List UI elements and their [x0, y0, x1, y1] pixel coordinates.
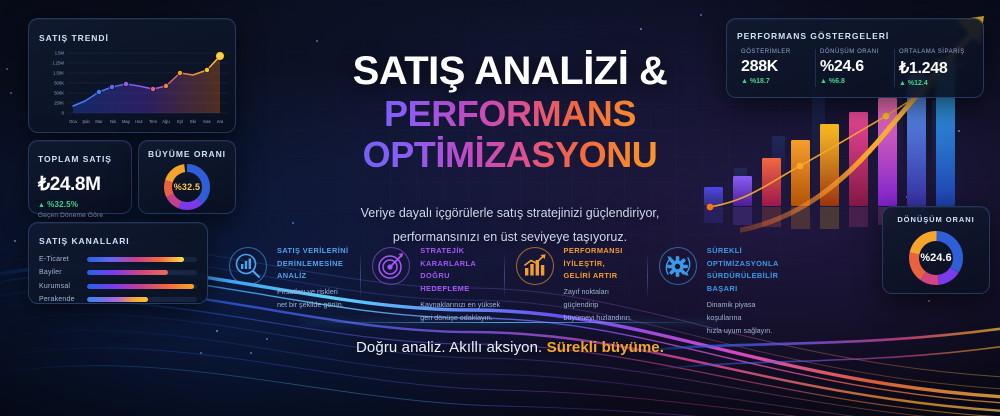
- feature-title-line1: STRATEJİK KARARLARLA: [420, 245, 501, 270]
- channel-bar-track: [87, 257, 197, 262]
- feature-separator: [647, 252, 648, 300]
- total-sales-delta: ▲%32.5%: [38, 200, 122, 209]
- feature-body: PERFORMANSI İYİLEŞTİR,GELİRİ ARTIRZayıf …: [564, 244, 645, 325]
- channel-row: Kurumsal: [39, 283, 197, 290]
- sales-channels-card: SATIŞ KANALLARI E-TicaretBayilerKurumsal…: [28, 222, 208, 304]
- feature-body: SATIŞ VERİLERİNİDERİNLEMESİNE ANALİZFırs…: [277, 244, 358, 312]
- sales-trend-chart: 1.5M 1.25M 1.50K 500K 500K 250K 0: [37, 45, 231, 129]
- feature-desc: Kaynaklarınızı en yüksekgeri dönüşe odak…: [420, 299, 501, 325]
- feature-desc-line2: hızla uyum sağlayın.: [707, 325, 788, 338]
- svg-text:Şub: Şub: [82, 119, 90, 124]
- feature-desc: Zayıf noktaları güçlendiripbüyümeyi hızl…: [564, 286, 645, 324]
- sales-channels-list: E-TicaretBayilerKurumsalPerakende: [39, 256, 197, 304]
- kpi-item: DÖNÜŞÜM ORANI%24.6▲ %6.8: [815, 49, 894, 87]
- channel-label: E-Ticaret: [39, 256, 87, 263]
- up-caret-icon: ▲: [820, 78, 827, 85]
- svg-text:Haz: Haz: [135, 119, 142, 124]
- feature-item: STRATEJİK KARARLARLADOĞRU HEDEFLEMEKayna…: [371, 244, 501, 337]
- sales-trend-title: SATIŞ TRENDİ: [39, 33, 109, 43]
- feature-desc-line2: net bir şekilde görün.: [277, 299, 358, 312]
- channel-label: Kurumsal: [39, 283, 87, 290]
- hero-subtitle-line1: Veriye dayalı içgörülerle satış strateji…: [250, 201, 770, 225]
- conversion-rate-title: DÖNÜŞÜM ORANI: [891, 215, 981, 224]
- kpi-label: ORTALAMA SİPARİŞ: [899, 49, 969, 55]
- feature-list: SATIŞ VERİLERİNİDERİNLEMESİNE ANALİZFırs…: [228, 244, 788, 337]
- channel-row: Bayiler: [39, 269, 197, 276]
- svg-text:Oca: Oca: [69, 119, 77, 124]
- sales-trend-card: SATIŞ TRENDİ: [28, 18, 236, 133]
- kpi-value: %24.6: [820, 58, 890, 76]
- feature-body: STRATEJİK KARARLARLADOĞRU HEDEFLEMEKayna…: [420, 244, 501, 325]
- channel-row: Perakende: [39, 296, 197, 303]
- feature-title-line2: DOĞRU HEDEFLEME: [420, 270, 501, 295]
- page-title-line2: PERFORMANS OPTİMİZASYONU: [250, 94, 770, 175]
- up-caret-icon: ▲: [899, 80, 906, 87]
- feature-item: SATIŞ VERİLERİNİDERİNLEMESİNE ANALİZFırs…: [228, 244, 358, 337]
- gear-sync-icon: [658, 246, 698, 286]
- kpi-delta-value: %12.4: [908, 80, 928, 87]
- channel-label: Perakende: [39, 296, 87, 303]
- svg-text:0: 0: [62, 111, 65, 116]
- kpi-delta: ▲ %12.4: [899, 80, 969, 87]
- feature-title-line1: SATIŞ VERİLERİNİ: [277, 245, 358, 258]
- sales-channels-title: SATIŞ KANALLARI: [39, 236, 130, 246]
- svg-text:Nis: Nis: [110, 119, 116, 124]
- up-caret-icon: ▲: [38, 202, 45, 209]
- feature-title-line2: SÜRDÜRÜLEBİLİR BAŞARI: [707, 270, 788, 295]
- svg-text:Kas: Kas: [203, 119, 210, 124]
- feature-separator: [360, 252, 361, 300]
- performance-indicators-list: GÖSTERİMLER288K▲ %18.7DÖNÜŞÜM ORANI%24.6…: [737, 49, 973, 87]
- kpi-value: ₺1.248: [899, 58, 969, 78]
- svg-text:250K: 250K: [54, 101, 64, 106]
- svg-text:Mar: Mar: [95, 119, 103, 124]
- channel-bar-track: [87, 284, 197, 289]
- tagline: Doğru analiz. Akıllı aksiyon. Sürekli bü…: [250, 339, 770, 356]
- svg-text:May: May: [122, 119, 131, 124]
- total-sales-note: Geçen Döneme Göre: [38, 212, 122, 219]
- magnifier-chart-icon: [228, 246, 268, 286]
- growth-rate-card: BÜYÜME ORANI %32.5: [138, 140, 236, 214]
- channel-row: E-Ticaret: [39, 256, 197, 263]
- feature-item: SÜREKLİ OPTİMİZASYONLASÜRDÜRÜLEBİLİR BAŞ…: [658, 244, 788, 337]
- feature-desc-line1: Zayıf noktaları güçlendirip: [564, 286, 645, 312]
- feature-desc-line1: Fırsatları ve riskleri: [277, 286, 358, 299]
- channel-label: Bayiler: [39, 269, 87, 276]
- hero-subtitle: Veriye dayalı içgörülerle satış strateji…: [250, 201, 770, 250]
- total-sales-title: TOPLAM SATIŞ: [38, 154, 112, 164]
- channel-bar-fill: [87, 257, 184, 262]
- tagline-plain: Doğru analiz. Akıllı aksiyon.: [356, 339, 542, 356]
- growth-rate-donut: %32.5: [161, 161, 213, 213]
- conversion-rate-value: %24.6: [906, 228, 966, 288]
- svg-text:Tem: Tem: [149, 119, 157, 124]
- channel-bar-track: [87, 270, 197, 275]
- section-divider: [300, 322, 720, 323]
- feature-title: STRATEJİK KARARLARLADOĞRU HEDEFLEME: [420, 245, 501, 296]
- svg-text:1.25M: 1.25M: [52, 61, 64, 66]
- kpi-label: DÖNÜŞÜM ORANI: [820, 49, 890, 55]
- hero-text-block: SATIŞ ANALİZİ & PERFORMANS OPTİMİZASYONU…: [250, 50, 770, 250]
- performance-indicators-title: PERFORMANS GÖSTERGELERİ: [737, 31, 889, 41]
- feature-desc-line1: Dinamik piyasa koşullarına: [707, 299, 788, 325]
- kpi-item: ORTALAMA SİPARİŞ₺1.248▲ %12.4: [894, 49, 973, 87]
- hero-banner: SATIŞ TRENDİ: [0, 0, 1000, 416]
- channel-bar-fill: [87, 270, 168, 275]
- feature-title: SÜREKLİ OPTİMİZASYONLASÜRDÜRÜLEBİLİR BAŞ…: [707, 245, 788, 296]
- svg-text:1.5M: 1.5M: [55, 51, 65, 56]
- conversion-rate-donut: %24.6: [906, 228, 966, 288]
- feature-title: PERFORMANSI İYİLEŞTİR,GELİRİ ARTIR: [564, 245, 645, 283]
- feature-title-line1: SÜREKLİ OPTİMİZASYONLA: [707, 245, 788, 270]
- svg-text:Eyl: Eyl: [177, 119, 183, 124]
- feature-title: SATIŞ VERİLERİNİDERİNLEMESİNE ANALİZ: [277, 245, 358, 283]
- feature-title-line1: PERFORMANSI İYİLEŞTİR,: [564, 245, 645, 270]
- feature-title-line2: GELİRİ ARTIR: [564, 270, 645, 283]
- kpi-delta: ▲ %6.8: [820, 78, 890, 85]
- feature-separator: [504, 252, 505, 300]
- svg-text:Ara: Ara: [217, 119, 224, 124]
- feature-item: PERFORMANSI İYİLEŞTİR,GELİRİ ARTIRZayıf …: [515, 244, 645, 337]
- feature-desc: Dinamik piyasa koşullarınahızla uyum sağ…: [707, 299, 788, 337]
- page-title-line1: SATIŞ ANALİZİ &: [250, 50, 770, 92]
- svg-text:Eki: Eki: [190, 119, 196, 124]
- growth-rate-value: %32.5: [161, 161, 213, 213]
- feature-desc: Fırsatları ve risklerinet bir şekilde gö…: [277, 286, 358, 312]
- channel-bar-fill: [87, 284, 194, 289]
- svg-text:1.50K: 1.50K: [53, 71, 64, 76]
- channel-bar-track: [87, 297, 197, 302]
- channel-bar-fill: [87, 297, 148, 302]
- svg-text:500K: 500K: [54, 91, 64, 96]
- growth-rate-title: BÜYÜME ORANI: [148, 149, 226, 159]
- svg-text:Ağu: Ağu: [162, 119, 170, 124]
- total-sales-card: TOPLAM SATIŞ ₺24.8M ▲%32.5% Geçen Döneme…: [28, 140, 132, 214]
- kpi-delta-value: %6.8: [829, 78, 845, 85]
- conversion-rate-card: DÖNÜŞÜM ORANI %24.6: [882, 206, 990, 294]
- tagline-highlight: Sürekli büyüme.: [547, 339, 664, 356]
- feature-body: SÜREKLİ OPTİMİZASYONLASÜRDÜRÜLEBİLİR BAŞ…: [707, 244, 788, 337]
- feature-desc-line1: Kaynaklarınızı en yüksek: [420, 299, 501, 312]
- svg-text:500K: 500K: [54, 81, 64, 86]
- feature-title-line2: DERİNLEMESİNE ANALİZ: [277, 258, 358, 283]
- target-arrow-icon: [371, 246, 411, 286]
- total-sales-value: ₺24.8M: [38, 173, 122, 196]
- total-sales-delta-value: %32.5%: [47, 200, 78, 209]
- growth-bars-arrow-icon: [515, 246, 555, 286]
